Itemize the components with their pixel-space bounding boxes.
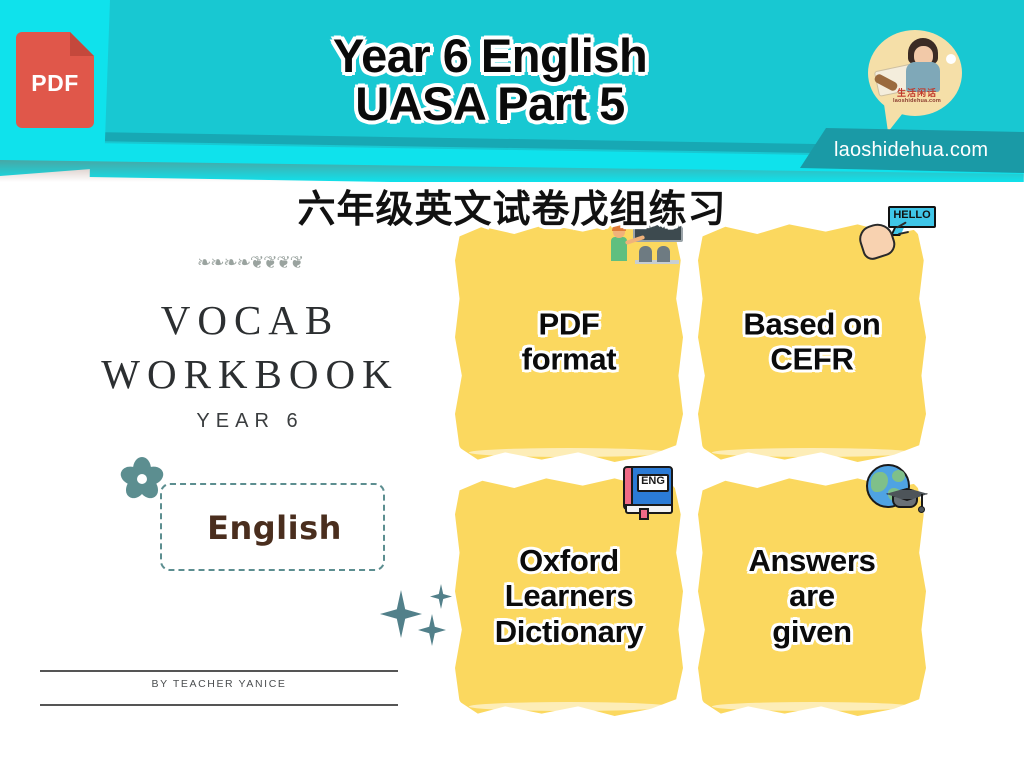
feature-card-dictionary[interactable]: ENG OxfordLearnersDictionary [455,476,683,716]
pdf-file-icon: PDF [16,32,94,128]
cover-title-line-2: WORKBOOK [40,347,460,401]
subject-label: English [162,509,387,547]
logo-dot [946,54,956,64]
page-title-line-1: Year 6 English [230,32,750,80]
sparkle-icon [380,590,422,638]
feature-card-answers[interactable]: Answersaregiven [698,476,926,716]
logo-url-text: laoshidehua.com [876,98,958,104]
student-figure [657,246,670,262]
feature-card-pdf-format[interactable]: ABC PDFformat [455,222,683,462]
logo-bubble-tail [884,104,910,132]
cover-title-line-1: VOCAB [40,293,460,347]
sparkle-icon [418,614,446,646]
flower-center [137,474,147,484]
chinese-subtitle: 六年级英文试卷戊组练习 [0,178,1024,233]
cover-rule-top [40,670,398,672]
globe-graduation-cap-icon [858,462,942,526]
decorative-leaf-divider: ❧❧❧❧❦❦❦❦ [40,253,460,273]
dictionary-pages [625,504,673,514]
pdf-icon-corner-fold [70,32,94,56]
workbook-cover: ❧❧❧❧❦❦❦❦ VOCAB WORKBOOK YEAR 6 English B… [40,215,460,735]
subject-dashed-box: English [160,483,385,571]
card-label-dictionary: OxfordLearnersDictionary [455,543,683,649]
pdf-icon-label: PDF [16,70,94,97]
card-label-cefr: Based onCEFR [698,307,926,378]
sparkle-icon-group [380,580,460,650]
sparkle-icon [430,584,452,609]
cover-title: VOCAB WORKBOOK [40,293,460,401]
cover-rule-bottom [40,704,398,706]
site-url-ribbon[interactable]: laoshidehua.com [800,128,1024,173]
site-url-text: laoshidehua.com [834,139,988,162]
cover-author: BY TEACHER YANICE [40,678,398,690]
dictionary-bookmark [639,508,649,520]
feature-card-cefr[interactable]: HELLO Based onCEFR [698,222,926,462]
site-logo: 生活闲话 laoshidehua.com [862,26,968,134]
english-dictionary-icon: ENG [615,464,699,528]
globe-landmass [892,470,905,482]
feature-cards: ABC PDFformat HELLO Based onCEFR [455,222,980,730]
cover-year-label: YEAR 6 [40,410,460,433]
graduation-cap-bead [918,506,925,513]
card-label-answers: Answersaregiven [698,543,926,649]
card-label-pdf-format: PDFformat [455,307,683,378]
student-figure [639,246,652,262]
dictionary-badge-text: ENG [637,475,669,487]
page-title: Year 6 English UASA Part 5 [230,32,750,128]
page-title-line-2: UASA Part 5 [230,80,750,128]
flower-icon [118,455,166,503]
